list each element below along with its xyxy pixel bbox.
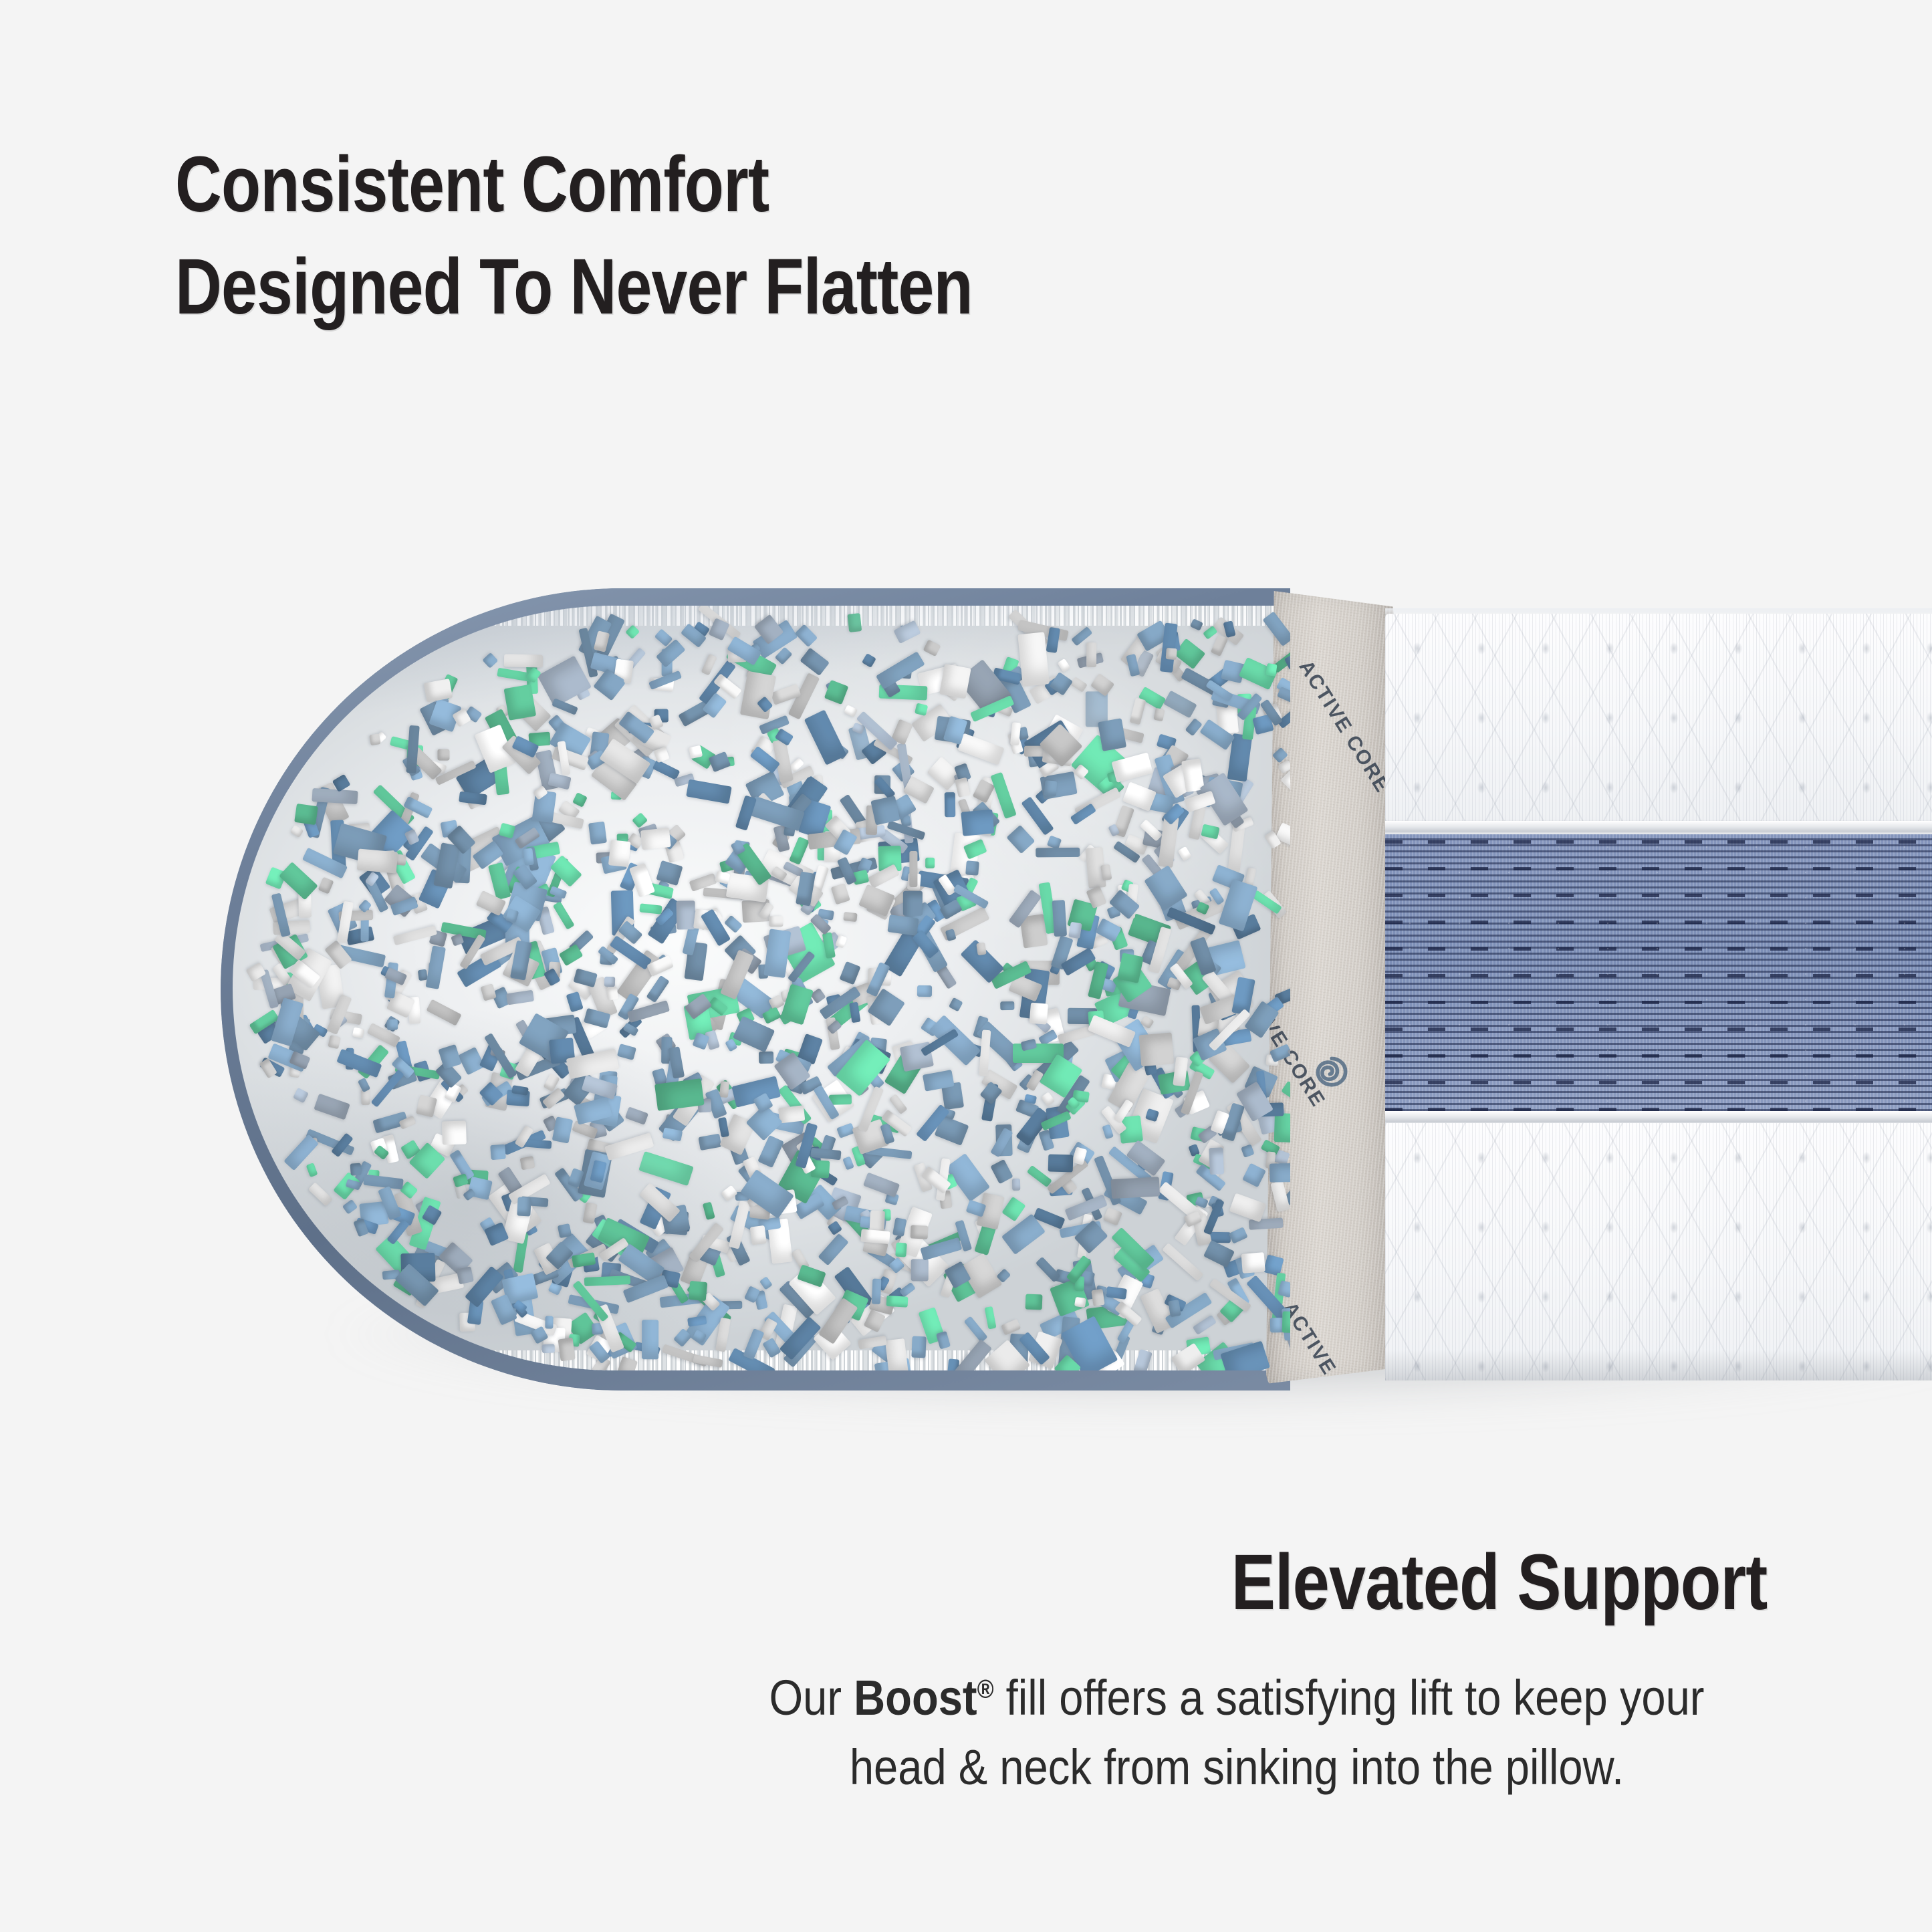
foam-chip (1100, 864, 1112, 880)
foam-chip (915, 703, 928, 717)
foam-chip (741, 671, 777, 719)
liner-label-bottom: ACTIVE CORE (1278, 1298, 1378, 1384)
foam-chip (757, 1135, 784, 1168)
foam-chip (357, 848, 398, 873)
foam-chip (701, 654, 717, 675)
foam-chip (625, 1106, 648, 1124)
foam-chip (917, 985, 931, 997)
foam-chip (279, 862, 318, 900)
foam-chip (939, 664, 971, 699)
pillow-cutaway-image: ACTIVE CORE ACTIVE CORE ACTIVE CORE (221, 588, 1932, 1404)
foam-chip (777, 1105, 805, 1124)
foam-chip (984, 1306, 996, 1329)
foam-chip (1162, 1243, 1203, 1282)
foam-chip (1241, 1252, 1265, 1274)
product-feature-panel: Consistent Comfort Designed To Never Fla… (0, 0, 1932, 1932)
foam-chip (936, 1331, 951, 1349)
foam-chip (871, 796, 900, 825)
foam-chip (1229, 1227, 1247, 1243)
foam-chip (350, 1163, 361, 1175)
foam-chip (676, 900, 695, 930)
foam-chip (925, 858, 935, 868)
foam-chip (689, 1281, 707, 1301)
headline-line-2: Designed To Never Flatten (175, 243, 973, 331)
foam-chip (655, 638, 685, 667)
foam-chip (831, 882, 850, 904)
foam-chip (503, 654, 542, 667)
foam-chip (1111, 1177, 1161, 1199)
foam-chip (1138, 1032, 1174, 1066)
foam-chip (442, 1121, 467, 1145)
foam-chip (769, 916, 783, 927)
foam-chip (459, 791, 487, 804)
foam-chip (1091, 1289, 1104, 1306)
foam-chip (289, 825, 304, 838)
foam-chip (328, 1035, 341, 1049)
foam-chip (308, 1182, 333, 1206)
foam-chip (558, 1223, 572, 1238)
foam-chip (1265, 663, 1278, 677)
foam-chip (862, 653, 876, 668)
foam-chip (387, 1019, 398, 1031)
foam-chip (1209, 1148, 1224, 1175)
foam-chip (718, 1117, 729, 1137)
foam-chip (1025, 1294, 1042, 1310)
foam-chip (965, 860, 979, 875)
foam-chip (312, 788, 358, 804)
foam-chip (839, 961, 860, 985)
foam-chip (453, 1174, 469, 1188)
foam-chip (1166, 648, 1177, 660)
foam-chip (259, 1058, 277, 1079)
foam-chip (863, 1172, 900, 1197)
foam-chip (909, 851, 917, 887)
foam-chip (584, 1276, 630, 1286)
foam-chip (482, 652, 498, 668)
outer-cover (1385, 588, 1932, 1380)
foam-chip (1044, 780, 1057, 796)
foam-chip (1070, 677, 1088, 692)
foam-chip (976, 943, 986, 956)
foam-chip (886, 1296, 909, 1308)
foam-chip (789, 836, 810, 865)
foam-chip (427, 999, 462, 1026)
cover-bottom-shadow (1385, 1350, 1932, 1380)
foam-chip (963, 1316, 987, 1342)
foam-chip (903, 891, 923, 916)
foam-chip (1058, 658, 1071, 672)
foam-chip (1036, 848, 1080, 858)
foam-chip (646, 975, 670, 1003)
foam-chip (608, 840, 630, 867)
foam-chip (552, 901, 574, 930)
foam-chip (1098, 718, 1126, 751)
foam-chip (1074, 1297, 1086, 1308)
foam-chip (1129, 697, 1146, 725)
foam-chip (545, 1316, 553, 1328)
body-before: Our (769, 1670, 854, 1725)
foam-chip (370, 733, 381, 745)
foam-chip (1041, 1092, 1056, 1106)
foam-chip (1021, 796, 1054, 836)
cover-panel-top (1385, 614, 1932, 821)
brand-name: Boost (854, 1670, 977, 1725)
foam-chip (352, 1027, 364, 1038)
foam-chip (1193, 1315, 1217, 1335)
foam-chip (523, 848, 533, 866)
foam-chip (572, 792, 588, 808)
foam-chip (506, 990, 534, 1005)
foam-chip (640, 828, 671, 850)
foam-fill-cross-section (221, 588, 1290, 1391)
page-title: Consistent Comfort Designed To Never Fla… (175, 134, 973, 339)
feature-title: Elevated Support (1231, 1538, 1767, 1628)
foam-chip (1086, 642, 1096, 667)
foam-chip (1274, 1113, 1290, 1142)
foam-chip (703, 1201, 715, 1219)
foam-chip (1269, 1163, 1290, 1182)
foam-chip (639, 903, 662, 914)
foam-chip (625, 624, 640, 639)
mesh-gusset (1385, 834, 1932, 1111)
foam-chip (990, 1159, 1013, 1184)
piping-top (1385, 821, 1932, 834)
registered-mark: ® (977, 1675, 994, 1703)
foam-chip (558, 1338, 576, 1362)
foam-chip (652, 760, 680, 781)
foam-chip (360, 1090, 370, 1106)
foam-chip (588, 822, 607, 845)
foam-chip (896, 1242, 908, 1257)
foam-chip (1177, 846, 1191, 861)
foam-chip (843, 912, 857, 922)
foam-chip (314, 1093, 350, 1120)
foam-chip (698, 1134, 721, 1151)
foam-chip (794, 624, 818, 647)
inner-liner: ACTIVE CORE ACTIVE CORE ACTIVE CORE (1263, 591, 1395, 1384)
foam-chip (1012, 1179, 1020, 1191)
liner-label-top: ACTIVE CORE (1294, 656, 1394, 798)
foam-chip (923, 639, 941, 656)
foam-chip (638, 1151, 693, 1186)
foam-chip (911, 1259, 929, 1281)
foam-chip (604, 977, 615, 987)
foam-chip (847, 613, 862, 632)
foam-chip (517, 1197, 531, 1217)
foam-chip (1048, 1154, 1074, 1172)
foam-chip (860, 1229, 890, 1243)
foam-chip (760, 1276, 773, 1290)
foam-chip (481, 983, 497, 1001)
foam-chip (1017, 632, 1050, 687)
foam-chip (844, 705, 858, 717)
foam-chip (961, 810, 995, 836)
knit-texture-bottom (1385, 1123, 1932, 1380)
foam-chip (911, 1225, 929, 1239)
foam-chip (888, 1094, 907, 1114)
foam-chip (949, 997, 963, 1011)
foam-chip (1052, 900, 1066, 937)
foam-chip (818, 1233, 849, 1265)
foam-chip (457, 1266, 474, 1284)
cover-panel-bottom (1385, 1123, 1932, 1380)
fill-field (233, 606, 1290, 1370)
foam-chip (715, 870, 730, 884)
foam-chip (490, 1144, 506, 1160)
piping-bottom (1385, 1111, 1932, 1124)
foam-chip (617, 1044, 636, 1060)
foam-chip (363, 1174, 404, 1189)
foam-chip (911, 1336, 927, 1358)
spiral-logo-icon (1312, 1052, 1352, 1092)
foam-chip (1153, 707, 1165, 721)
foam-chip (294, 803, 318, 824)
foam-chip (944, 792, 955, 817)
foam-chip (800, 647, 830, 676)
foam-chip (520, 1156, 535, 1170)
foam-chip (888, 915, 919, 936)
foam-chip (871, 1279, 881, 1304)
foam-chip (686, 779, 731, 804)
foam-chip (1029, 1002, 1048, 1024)
foam-chip (1229, 1193, 1266, 1222)
headline-line-1: Consistent Comfort (175, 140, 769, 229)
foam-chip (991, 771, 1017, 818)
foam-chip (318, 876, 334, 894)
feature-description: Our Boost® fill offers a satisfying lift… (754, 1663, 1719, 1802)
foam-chip (1242, 1163, 1266, 1187)
foam-chip (836, 1123, 855, 1139)
foam-chip (884, 1338, 908, 1370)
foam-chip (957, 733, 1004, 765)
foam-chip (1241, 1144, 1255, 1158)
foam-chip (1006, 825, 1035, 854)
foam-chip (552, 1117, 573, 1144)
foam-chip (437, 749, 449, 760)
foam-chip (1000, 1001, 1015, 1010)
foam-chip (606, 987, 618, 1001)
foam-chip (1282, 1311, 1290, 1333)
foam-chip (751, 1225, 767, 1245)
foam-chip (1000, 1318, 1021, 1335)
foam-chip (503, 684, 535, 720)
foam-chip (306, 1163, 318, 1178)
foam-chip (1211, 634, 1228, 656)
foam-chip (542, 1344, 555, 1353)
foam-chip (1103, 1207, 1122, 1225)
foam-chip (1001, 1197, 1025, 1221)
foam-chip (876, 651, 925, 689)
foam-chip (537, 655, 591, 707)
foam-chip (293, 1088, 309, 1103)
foam-chip (641, 1320, 658, 1359)
foam-chip (1185, 718, 1203, 737)
knit-texture-top (1385, 614, 1932, 821)
foam-chip (724, 915, 743, 933)
foam-chip (759, 1052, 773, 1064)
foam-chip (425, 945, 446, 989)
foam-chip (842, 1156, 854, 1170)
foam-chip (804, 710, 846, 765)
foam-chip (342, 1199, 358, 1214)
foam-chip (1163, 691, 1197, 718)
